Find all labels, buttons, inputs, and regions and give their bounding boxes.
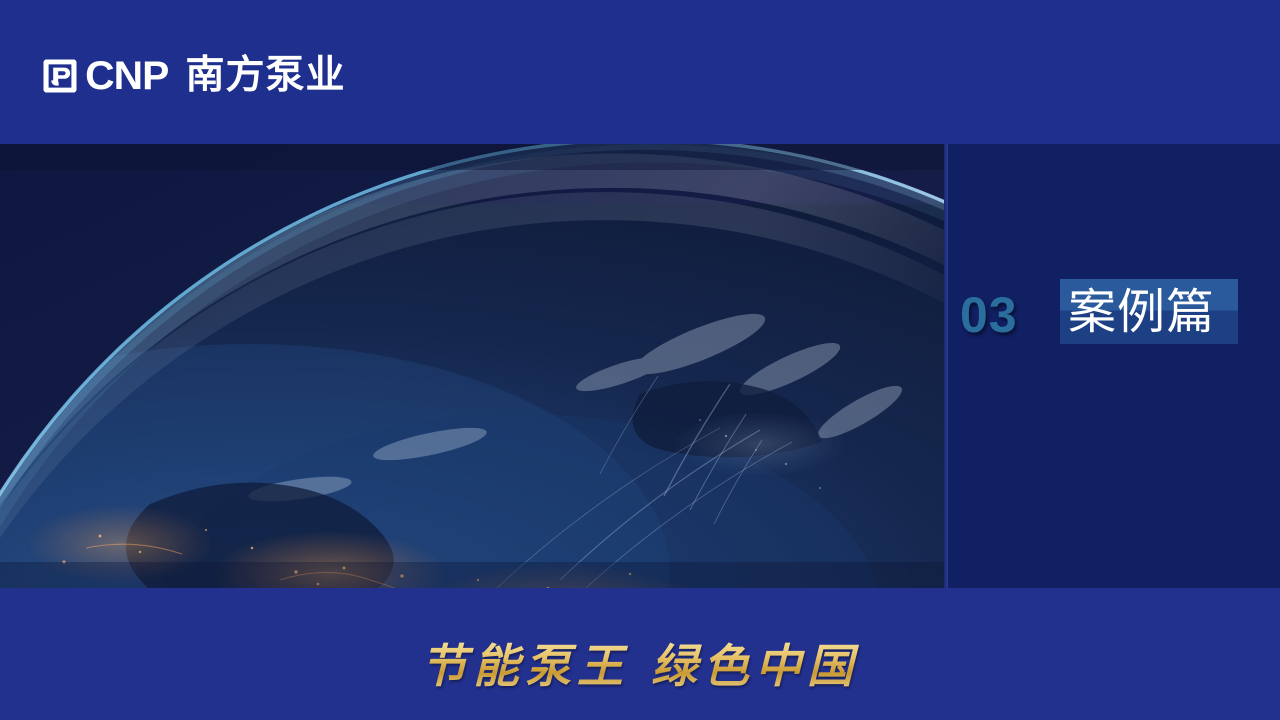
earth-photo-artwork (0, 144, 948, 588)
section-title: 案例篇 (1068, 281, 1248, 343)
section-number: 03 (960, 288, 1018, 342)
footer-slogan: 节能泵王 绿色中国 (0, 636, 1280, 696)
slide-root: CNP 南方泵业 (0, 0, 1280, 720)
earth-photo (0, 144, 948, 588)
logo-latin-text: CNP (85, 56, 168, 96)
section-panel (948, 144, 1280, 588)
header-band: CNP 南方泵业 (0, 0, 1280, 144)
cnp-monogram-icon (40, 56, 80, 96)
logo-chinese-text: 南方泵业 (185, 56, 345, 96)
brand-logo[interactable]: CNP 南方泵业 (40, 52, 345, 100)
